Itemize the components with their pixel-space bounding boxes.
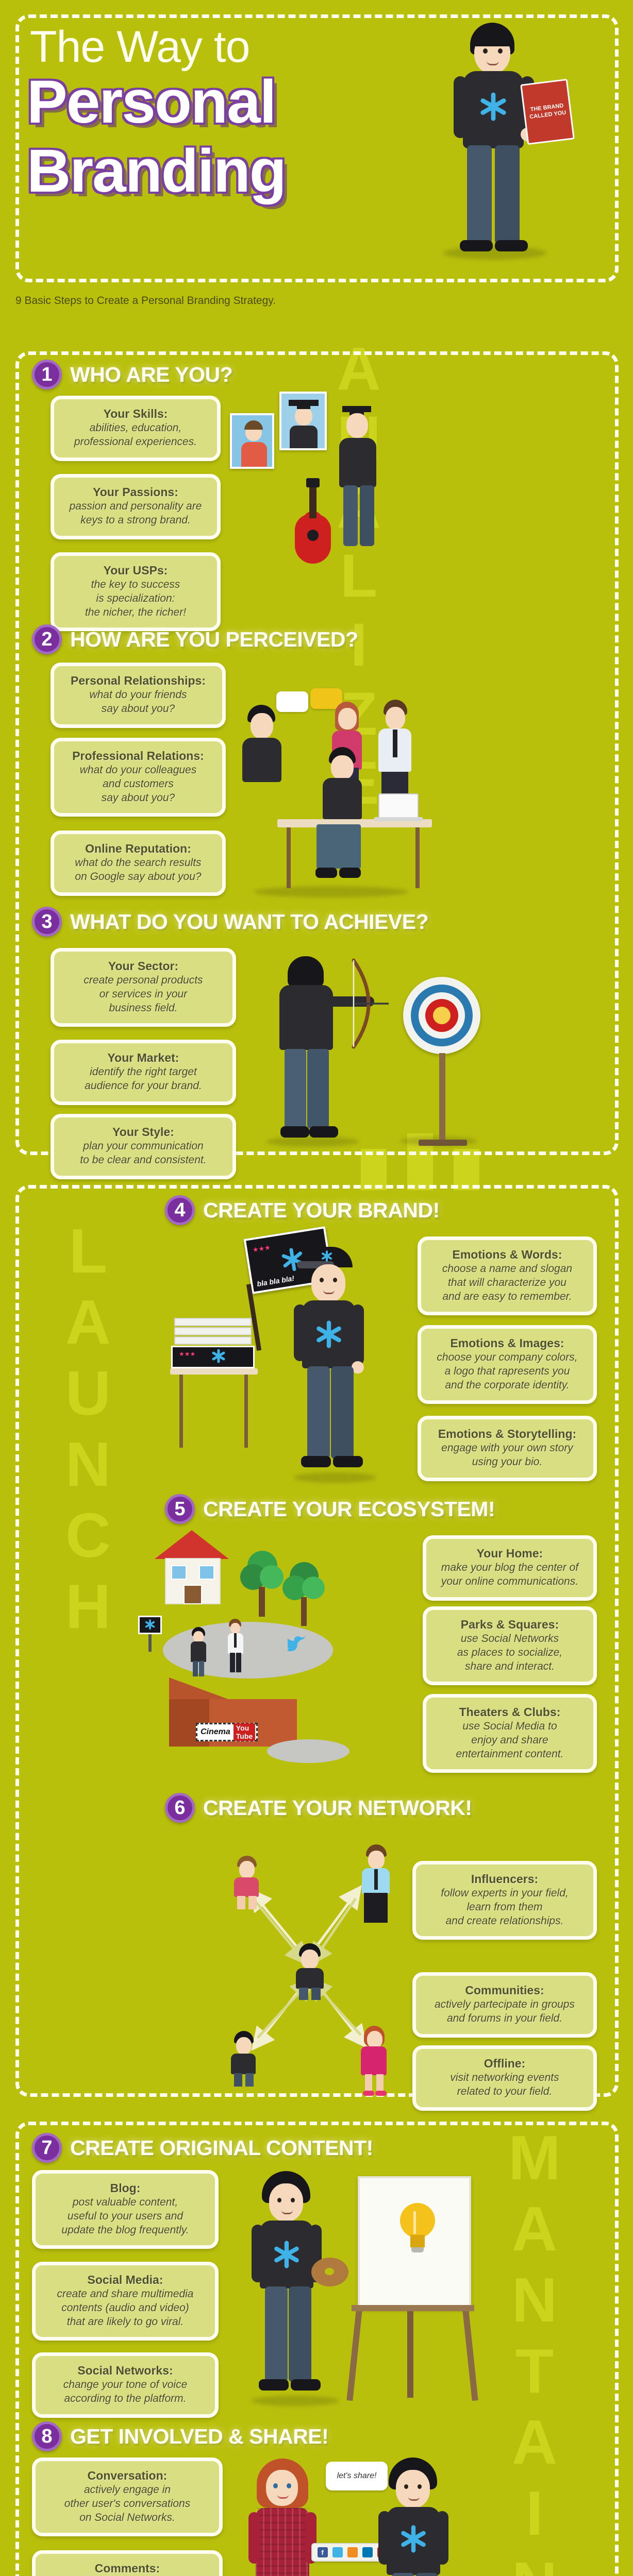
section-2-header: 2 HOW ARE YOU PERCEIVED? — [32, 624, 604, 654]
card-personal-relationships: Personal Relationships: what do your fri… — [51, 663, 226, 728]
photo-frame-child — [230, 413, 274, 469]
section-8-header: 8 GET INVOLVED & SHARE! — [32, 2421, 604, 2451]
card-title: Conversation: — [44, 2468, 211, 2483]
card-title: Your Home: — [435, 1546, 585, 1561]
card-your-market: Your Market: identify the right target a… — [51, 1040, 236, 1105]
card-desc: engage with your own story using your bi… — [429, 1442, 585, 1469]
section-4-number-badge: 4 — [165, 1195, 195, 1225]
speech-bubble-text: let's share! — [337, 2471, 377, 2481]
section-6-title: CREATE YOUR NETWORK! — [203, 1796, 472, 1820]
section-2-title: HOW ARE YOU PERCEIVED? — [70, 628, 358, 652]
leg-left — [467, 145, 492, 244]
card-desc: use Social Media to enjoy and share ente… — [435, 1720, 585, 1761]
section-8-illustration: let's share! f — [233, 2452, 501, 2576]
facebook-icon: f — [318, 2547, 328, 2557]
card-desc: what do the search results on Google say… — [62, 856, 214, 884]
card-professional-relations: Professional Relations: what do your col… — [51, 738, 226, 817]
card-title: Social Media: — [44, 2273, 207, 2287]
cinema-building: Cinema You Tube — [169, 1677, 329, 1760]
hero-title-line1: The Way to — [30, 22, 250, 73]
section-3-header: 3 WHAT DO YOU WANT TO ACHIEVE? — [32, 907, 604, 937]
section-5-header: 5 CREATE YOUR ECOSYSTEM! — [165, 1494, 608, 1524]
card-desc: actively partecipate in groups and forum… — [424, 1998, 585, 2026]
arm-left — [454, 76, 467, 138]
card-desc: create personal products or services in … — [62, 974, 224, 1015]
card-title: Emotions & Storytelling: — [429, 1427, 585, 1442]
card-desc: plan your communication to be clear and … — [62, 1140, 224, 1167]
section-2-number-badge: 2 — [32, 624, 62, 654]
easel-illustration — [348, 2176, 498, 2403]
section-4: 4 CREATE YOUR BRAND! — [165, 1195, 608, 1225]
section-1-header: 1 WHO ARE YOU? — [32, 360, 604, 389]
section-6-number-badge: 6 — [165, 1793, 195, 1823]
card-desc: what do your friends say about you? — [62, 688, 214, 716]
hair-fringe — [472, 31, 513, 46]
card-your-usps: Your USPs: the key to success is special… — [51, 552, 221, 631]
section-4-header: 4 CREATE YOUR BRAND! — [165, 1195, 608, 1225]
card-offline: Offline: visit networking events related… — [412, 2045, 597, 2111]
card-title: Emotions & Words: — [429, 1247, 585, 1262]
twitter-bird-icon — [288, 1635, 307, 1652]
card-desc: identify the right target audience for y… — [62, 1065, 224, 1093]
card-desc: what do your colleagues and customers sa… — [62, 764, 214, 805]
card-title: Influencers: — [424, 1872, 585, 1887]
card-influencers: Influencers: follow experts in your fiel… — [412, 1861, 597, 1940]
card-your-style: Your Style: plan your communication to b… — [51, 1114, 236, 1179]
section-6-illustration — [206, 1834, 412, 2092]
card-title: Your USPs: — [62, 563, 209, 578]
card-title: Offline: — [424, 2056, 585, 2071]
network-person-bottom-left — [224, 2031, 265, 2088]
card-desc: change your tone of voice according to t… — [44, 2378, 207, 2406]
section-7-number-badge: 7 — [32, 2133, 62, 2163]
leg-right — [495, 145, 520, 244]
poster-text: bla bla bla! — [256, 1274, 295, 1288]
twitter-icon — [332, 2547, 343, 2557]
book-stack-on-stand: ★★★ — [170, 1318, 268, 1452]
section-5-title: CREATE YOUR ECOSYSTEM! — [203, 1497, 495, 1521]
cinema-sign-text: Cinema — [201, 1727, 230, 1737]
youtube-sign-text: You Tube — [234, 1723, 255, 1741]
brand-person-figure — [294, 1247, 381, 1479]
house-illustration — [149, 1530, 237, 1607]
card-your-home: Your Home: make your blog the center of … — [423, 1535, 597, 1601]
card-title: Your Style: — [62, 1125, 224, 1140]
plaza-person-dark — [188, 1627, 208, 1676]
mini-billboard — [138, 1616, 164, 1652]
section-6: 6 CREATE YOUR NETWORK! — [165, 1793, 608, 1823]
photo-frame-graduate — [279, 392, 327, 450]
card-desc: actively engage in other user's conversa… — [44, 2483, 211, 2525]
network-center-person — [288, 1943, 331, 2000]
section-5-illustration: Cinema You Tube — [129, 1525, 423, 1793]
archer-figure — [270, 956, 353, 1142]
card-theaters-clubs: Theaters & Clubs: use Social Media to en… — [423, 1694, 597, 1773]
section-1-illustration — [230, 392, 390, 613]
card-emotions-images: Emotions & Images: choose your company c… — [418, 1325, 597, 1404]
card-your-passions: Your Passions: passion and personality a… — [51, 474, 221, 539]
book-title-text: THE BRAND CALLED YOU — [527, 103, 569, 122]
card-comments: Comments: leave meaningful coments on bl… — [32, 2550, 223, 2576]
bow-illustration — [343, 957, 390, 1050]
card-title: Personal Relationships: — [62, 673, 214, 688]
card-your-sector: Your Sector: create personal products or… — [51, 948, 236, 1027]
desk-and-laptop — [277, 794, 442, 892]
section-2: 2 HOW ARE YOU PERCEIVED? — [32, 624, 604, 654]
card-title: Your Sector: — [62, 959, 224, 974]
card-desc: passion and personality are keys to a st… — [62, 500, 209, 528]
hero-banner: The Way to Personal Branding 9 Basic Ste… — [0, 0, 633, 309]
card-emotions-storytelling: Emotions & Storytelling: engage with you… — [418, 1416, 597, 1481]
card-title: Your Passions: — [62, 485, 209, 500]
card-desc: follow experts in your field, learn from… — [424, 1887, 585, 1928]
card-title: Theaters & Clubs: — [435, 1705, 585, 1720]
eye-left — [483, 48, 488, 54]
guitar-illustration — [279, 482, 341, 570]
network-person-influencer — [355, 1844, 398, 1925]
card-online-reputation: Online Reputation: what do the search re… — [51, 831, 226, 896]
card-title: Blog: — [44, 2181, 207, 2196]
card-desc: choose your company colors, a logo that … — [429, 1351, 585, 1393]
palette-hole — [325, 2268, 334, 2275]
shoe-right — [495, 240, 528, 251]
card-emotions-words: Emotions & Words: choose a name and slog… — [418, 1236, 597, 1315]
card-social-media: Social Media: create and share multimedi… — [32, 2262, 219, 2341]
shoe-left — [460, 240, 493, 251]
card-title: Professional Relations: — [62, 749, 214, 764]
section-8-title: GET INVOLVED & SHARE! — [70, 2425, 328, 2449]
card-desc: choose a name and slogan that will chara… — [429, 1262, 585, 1304]
content-creator-figure — [247, 2171, 340, 2403]
card-social-networks: Social Networks: change your tone of voi… — [32, 2352, 219, 2418]
card-your-skills: Your Skills: abilities, education, profe… — [51, 396, 221, 461]
watermark-bar — [454, 1149, 479, 1190]
section-7-header: 7 CREATE ORIGINAL CONTENT! — [32, 2133, 604, 2163]
card-title: Online Reputation: — [62, 841, 214, 856]
card-desc: visit networking events related to your … — [424, 2071, 585, 2099]
card-desc: abilities, education, professional exper… — [62, 421, 209, 449]
plaza-person-shirt — [225, 1619, 245, 1673]
speech-bubble-left — [276, 691, 308, 712]
card-title: Emotions & Images: — [429, 1336, 585, 1351]
section-7: 7 CREATE ORIGINAL CONTENT! — [32, 2133, 604, 2163]
section-7-title: CREATE ORIGINAL CONTENT! — [70, 2136, 373, 2160]
section-8: 8 GET INVOLVED & SHARE! — [32, 2421, 604, 2451]
section-1-number-badge: 1 — [32, 360, 62, 389]
section-3: 3 WHAT DO YOU WANT TO ACHIEVE? — [32, 907, 604, 937]
card-desc: the key to success is specialization: th… — [62, 578, 209, 620]
card-blog: Blog: post valuable content, useful to y… — [32, 2170, 219, 2249]
section-4-title: CREATE YOUR BRAND! — [203, 1198, 440, 1223]
card-parks-squares: Parks & Squares: use Social Networks as … — [423, 1606, 597, 1685]
hero-subtitle: 9 Basic Steps to Create a Personal Brand… — [15, 295, 276, 307]
network-person-girl — [354, 2026, 396, 2096]
section-1: 1 WHO ARE YOU? — [32, 360, 604, 389]
card-desc: use Social Networks as places to sociali… — [435, 1632, 585, 1674]
network-person-top-left — [227, 1856, 267, 1910]
card-desc: make your blog the center of your online… — [435, 1561, 585, 1589]
section-6-header: 6 CREATE YOUR NETWORK! — [165, 1793, 608, 1823]
sharing-guy-figure — [371, 2458, 464, 2576]
card-title: Your Market: — [62, 1050, 224, 1065]
card-communities: Communities: actively partecipate in gro… — [412, 1972, 597, 2038]
hero-title-line2: Personal — [27, 71, 275, 133]
section-5-number-badge: 5 — [165, 1494, 195, 1524]
card-conversation: Conversation: actively engage in other u… — [32, 2458, 223, 2536]
hero-title-line3: Branding — [27, 140, 286, 202]
section-3-number-badge: 3 — [32, 907, 62, 937]
section-1-title: WHO ARE YOU? — [70, 363, 232, 387]
section-4-illustration: ★★★ bla bla bla! — [134, 1226, 402, 1494]
card-title: Comments: — [44, 2561, 211, 2576]
hero-person-illustration: THE BRAND CALLED YOU — [423, 20, 593, 262]
section-8-number-badge: 8 — [32, 2421, 62, 2451]
section-7-illustration — [227, 2164, 515, 2411]
watermark-bar — [361, 1149, 387, 1190]
tree-illustration — [238, 1551, 285, 1618]
card-desc: create and share multimedia contents (au… — [44, 2287, 207, 2329]
tree-illustration — [281, 1562, 327, 1627]
asterisk-logo-icon — [478, 92, 508, 122]
eye-right — [498, 48, 503, 54]
archery-target — [398, 977, 486, 1142]
card-title: Social Networks: — [44, 2363, 207, 2378]
section-2-illustration — [233, 670, 455, 902]
section-5: 5 CREATE YOUR ECOSYSTEM! — [165, 1494, 608, 1524]
book-cover: THE BRAND CALLED YOU — [520, 79, 575, 145]
card-title: Communities: — [424, 1983, 585, 1998]
rss-icon — [347, 2547, 358, 2557]
card-title: Your Skills: — [62, 406, 209, 421]
card-desc: post valuable content, useful to your us… — [44, 2196, 207, 2238]
card-title: Parks & Squares: — [435, 1617, 585, 1632]
section-3-illustration — [245, 945, 493, 1151]
section-3-title: WHAT DO YOU WANT TO ACHIEVE? — [70, 910, 428, 934]
